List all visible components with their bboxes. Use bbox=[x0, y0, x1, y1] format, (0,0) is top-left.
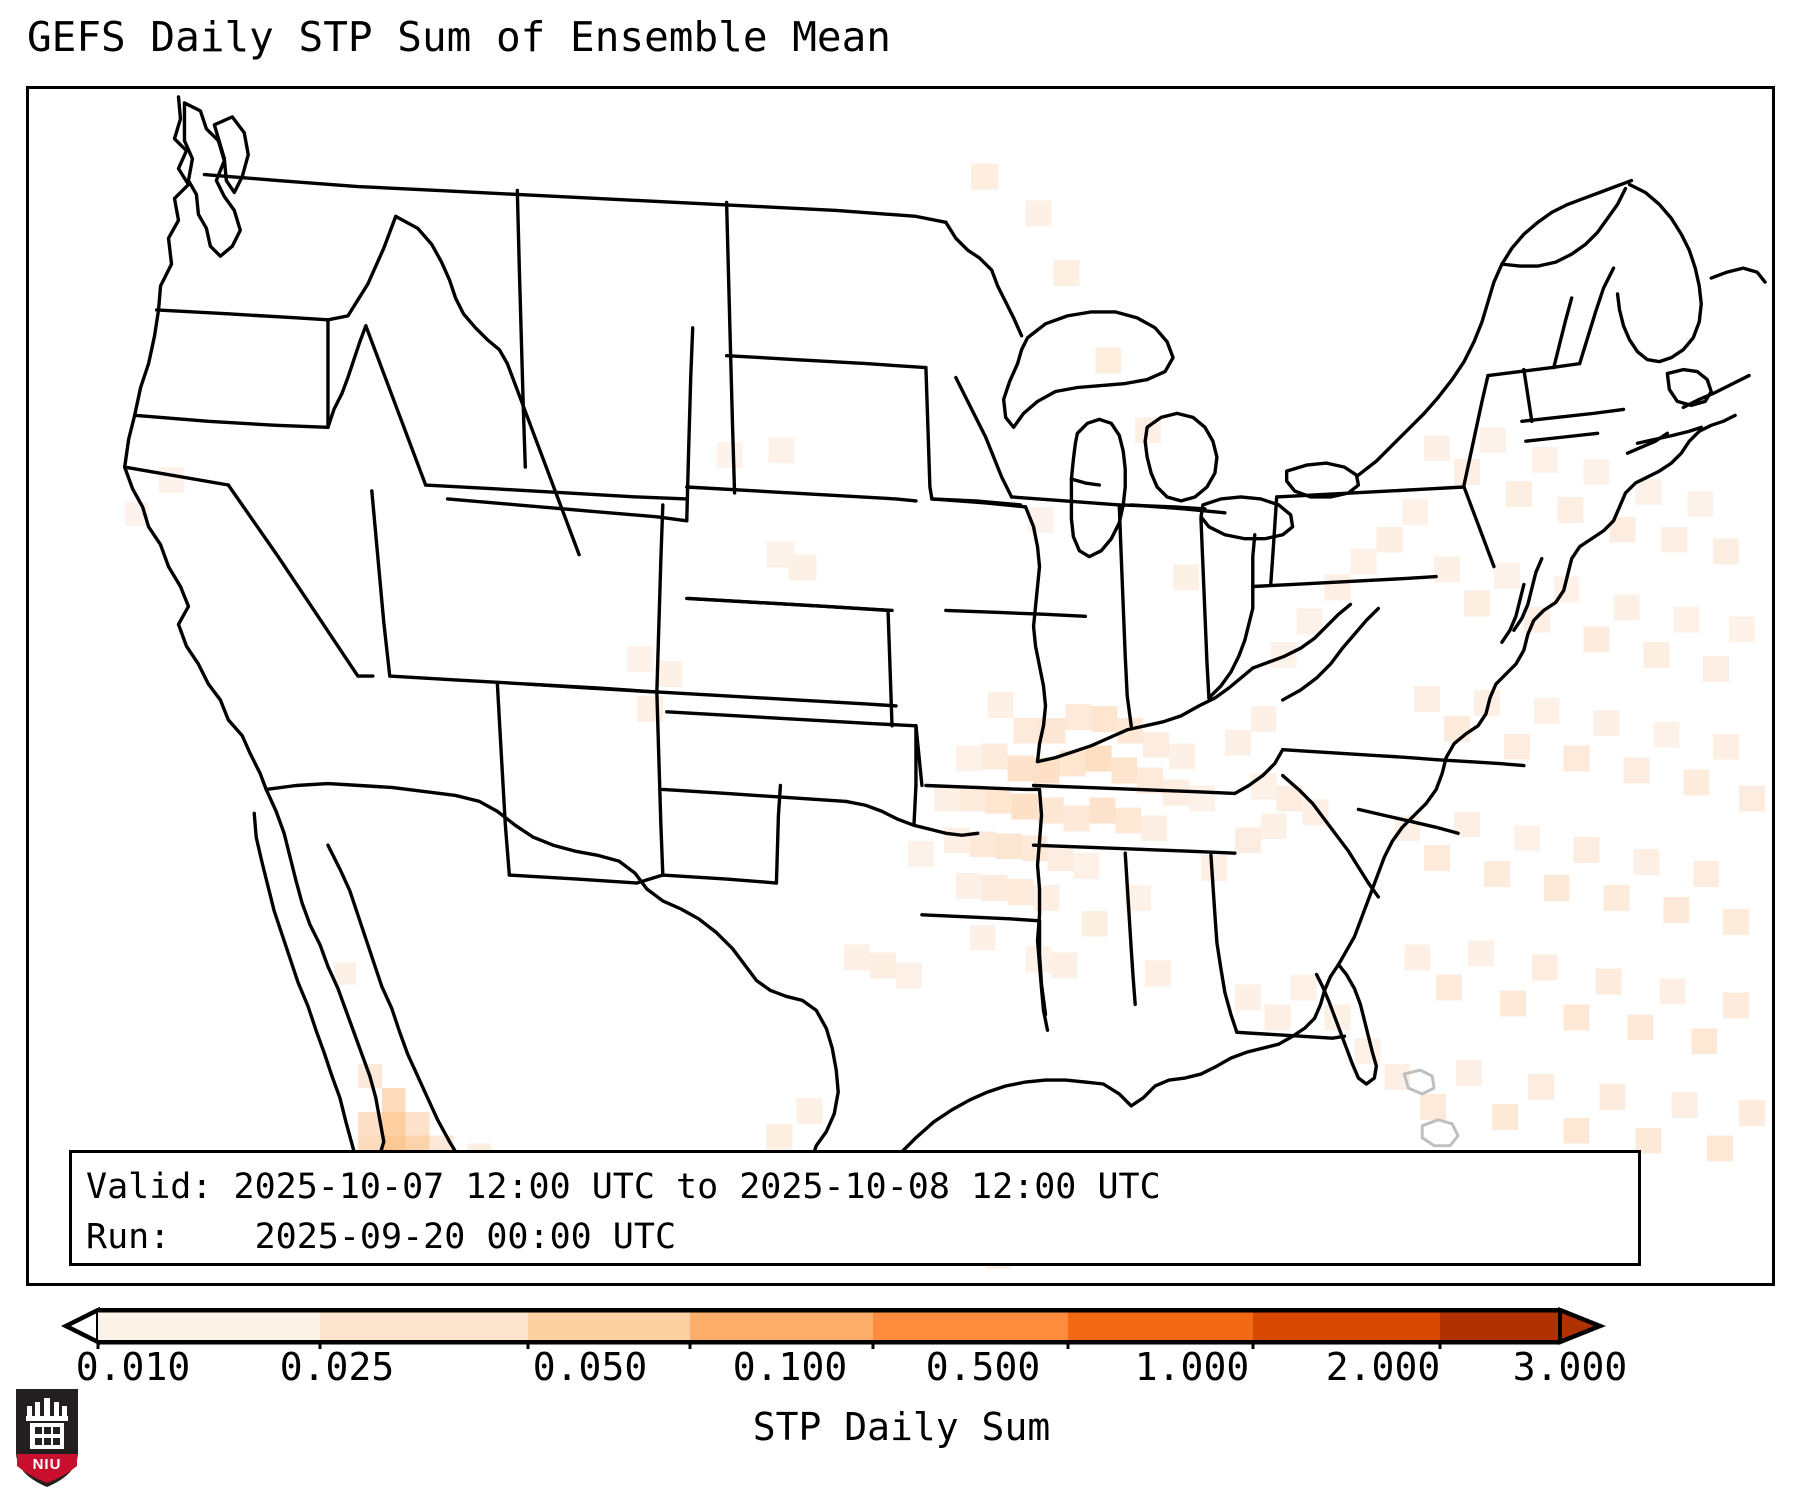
colorbar-tick-4: 0.500 bbox=[926, 1345, 1040, 1389]
niu-logo-svg: NIU bbox=[13, 1386, 81, 1490]
colorbar-tick-7: 3.000 bbox=[1513, 1345, 1627, 1389]
colorbar[interactable] bbox=[0, 1303, 1803, 1349]
colorbar-tick-2: 0.050 bbox=[533, 1345, 647, 1389]
stp-heatmap-cells bbox=[125, 164, 1765, 1269]
colorbar-tick-3: 0.100 bbox=[733, 1345, 847, 1389]
colorbar-tick-labels: 0.010 0.025 0.050 0.100 0.500 1.000 2.00… bbox=[0, 1345, 1803, 1401]
colorbar-segments bbox=[98, 1310, 1560, 1342]
annotation-info-box: Valid: 2025-10-07 12:00 UTC to 2025-10-0… bbox=[69, 1150, 1641, 1266]
map-geography-outlines bbox=[125, 97, 1765, 1263]
colorbar-tick-0: 0.010 bbox=[76, 1345, 190, 1389]
colorbar-tick-6: 2.000 bbox=[1326, 1345, 1440, 1389]
colorbar-tick-5: 1.000 bbox=[1135, 1345, 1249, 1389]
colorbar-svg bbox=[0, 1303, 1803, 1349]
map-plot-area: Valid: 2025-10-07 12:00 UTC to 2025-10-0… bbox=[26, 86, 1775, 1286]
niu-logo: NIU bbox=[13, 1386, 81, 1490]
page-title: GEFS Daily STP Sum of Ensemble Mean bbox=[27, 17, 891, 58]
colorbar-axis-label: STP Daily Sum bbox=[0, 1405, 1803, 1449]
colorbar-tick-1: 0.025 bbox=[280, 1345, 394, 1389]
map-canvas bbox=[29, 89, 1772, 1283]
run-time-line: Run: 2025-09-20 00:00 UTC bbox=[86, 1212, 1638, 1262]
niu-logo-text: NIU bbox=[33, 1456, 62, 1473]
valid-time-line: Valid: 2025-10-07 12:00 UTC to 2025-10-0… bbox=[86, 1162, 1638, 1212]
